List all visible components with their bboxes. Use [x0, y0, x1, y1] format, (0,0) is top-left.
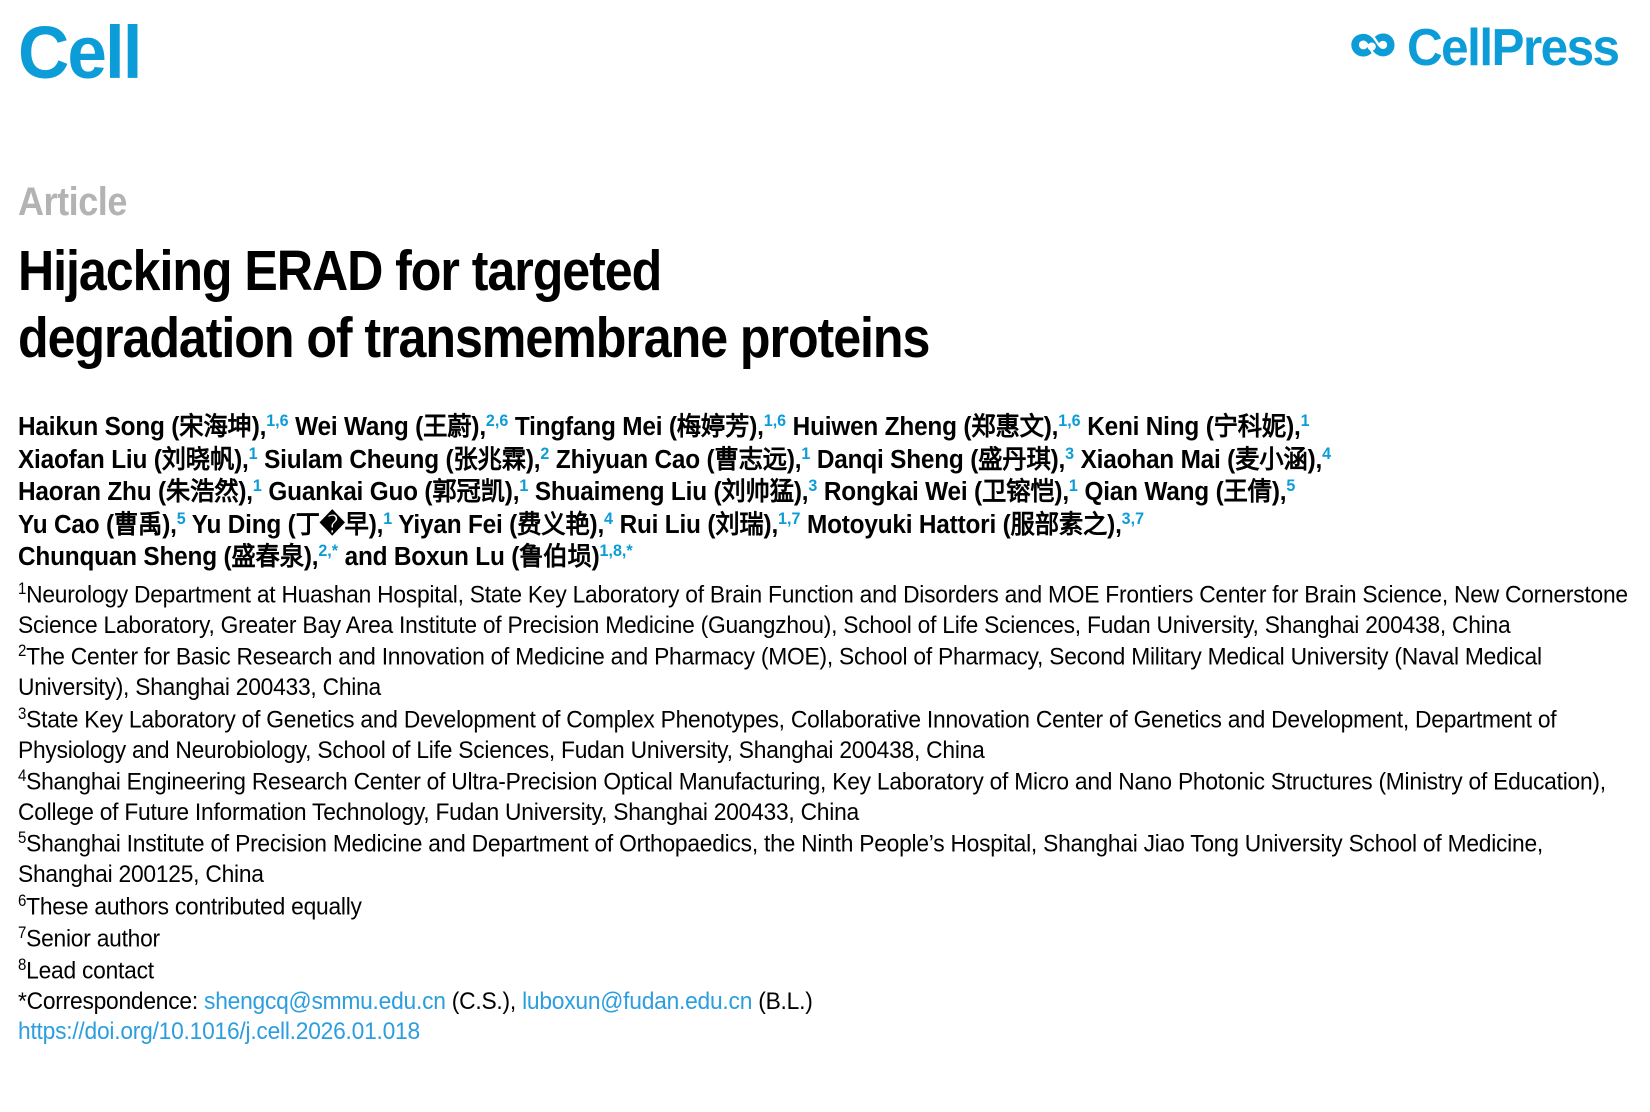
author-name: Yu Ding (丁�早),	[186, 511, 384, 539]
affiliation-text: Lead contact	[26, 957, 154, 984]
doi-link[interactable]: https://doi.org/10.1016/j.cell.2026.01.0…	[18, 1017, 1632, 1048]
cellpress-loop-icon	[1351, 25, 1397, 71]
author-affiliation-marker[interactable]: 2,6	[486, 411, 508, 430]
affiliation-item: 6These authors contributed equally	[18, 891, 1632, 923]
author-affiliation-marker[interactable]: 1	[253, 476, 262, 495]
author-affiliation-marker[interactable]: 1,6	[1058, 411, 1080, 430]
author-affiliation-marker[interactable]: 5	[1286, 476, 1295, 495]
author-name: Qian Wang (王倩),	[1078, 478, 1286, 506]
affiliation-item: 1Neurology Department at Huashan Hospita…	[18, 579, 1632, 641]
author-affiliation-marker[interactable]: 5	[177, 509, 186, 528]
author-affiliation-marker[interactable]: 3	[808, 476, 817, 495]
author-affiliation-marker[interactable]: 3,7	[1122, 509, 1144, 528]
cellpress-publisher-logo[interactable]: CellPress	[1351, 22, 1630, 74]
author-affiliation-marker[interactable]: 1,6	[266, 411, 288, 430]
correspondence-initials: (C.S.),	[452, 988, 516, 1015]
author-affiliation-marker[interactable]: 1	[249, 444, 258, 463]
page-title: Hijacking ERAD for targeteddegradation o…	[18, 238, 1623, 371]
article-header-page: Cell CellPress Article Hijacking ERAD fo…	[0, 0, 1650, 1112]
correspondence-label: *Correspondence:	[18, 988, 198, 1015]
author-affiliation-marker[interactable]: 2	[540, 444, 549, 463]
affiliation-marker: 5	[18, 829, 26, 847]
author-affiliation-marker[interactable]: 1	[383, 509, 392, 528]
author-name: Rongkai Wei (卫镕恺),	[817, 478, 1069, 506]
correspondence-line: *Correspondence: shengcq@smmu.edu.cn (C.…	[18, 987, 1632, 1018]
affiliation-text: State Key Laboratory of Genetics and Dev…	[18, 706, 1556, 764]
affiliation-item: 7Senior author	[18, 923, 1632, 955]
author-name: Shuaimeng Liu (刘帅猛),	[528, 478, 808, 506]
correspondence-email-link[interactable]: luboxun@fudan.edu.cn	[522, 988, 752, 1015]
author-affiliation-marker[interactable]: 2,*	[318, 541, 338, 560]
author-name: Tingfang Mei (梅婷芳),	[508, 413, 763, 441]
author-name: Rui Liu (刘瑞),	[613, 511, 778, 539]
author-affiliation-marker[interactable]: 1	[1069, 476, 1078, 495]
author-name: Haoran Zhu (朱浩然),	[18, 478, 253, 506]
author-name: and Boxun Lu (鲁伯埙)	[338, 543, 600, 571]
author-name: Danqi Sheng (盛丹琪),	[810, 446, 1065, 474]
affiliation-marker: 3	[18, 705, 26, 723]
affiliation-list: 1Neurology Department at Huashan Hospita…	[18, 579, 1632, 987]
author-name: Xiaofan Liu (刘晓帆),	[18, 446, 249, 474]
affiliation-marker: 6	[18, 892, 26, 910]
author-line: Haikun Song (宋海坤),1,6 Wei Wang (王蔚),2,6 …	[18, 411, 1632, 443]
affiliation-text: These authors contributed equally	[26, 893, 362, 920]
masthead: Cell CellPress	[18, 0, 1632, 112]
author-name: Wei Wang (王蔚),	[289, 413, 486, 441]
affiliation-item: 8Lead contact	[18, 955, 1632, 987]
article-type-kicker: Article	[18, 182, 1471, 222]
author-line: Xiaofan Liu (刘晓帆),1 Siulam Cheung (张兆霖),…	[18, 444, 1632, 476]
author-affiliation-marker[interactable]: 1	[801, 444, 810, 463]
affiliation-text: The Center for Basic Research and Innova…	[18, 644, 1542, 702]
title-line: degradation of transmembrane proteins	[18, 305, 1623, 372]
author-line: Chunquan Sheng (盛春泉),2,* and Boxun Lu (鲁…	[18, 541, 1632, 573]
affiliation-text: Senior author	[26, 925, 160, 952]
author-name: Yiyan Fei (费义艳),	[392, 511, 604, 539]
affiliation-item: 2The Center for Basic Research and Innov…	[18, 641, 1632, 703]
correspondence-email-link[interactable]: shengcq@smmu.edu.cn	[204, 988, 446, 1015]
affiliation-text: Shanghai Institute of Precision Medicine…	[18, 831, 1543, 889]
author-name: Xiaohan Mai (麦小涵),	[1074, 446, 1322, 474]
author-name: Siulam Cheung (张兆霖),	[258, 446, 541, 474]
affiliation-marker: 4	[18, 767, 26, 785]
affiliation-text: Shanghai Engineering Research Center of …	[18, 768, 1606, 826]
author-line: Haoran Zhu (朱浩然),1 Guankai Guo (郭冠凯),1 S…	[18, 476, 1632, 508]
affiliation-item: 5Shanghai Institute of Precision Medicin…	[18, 828, 1632, 890]
affiliation-text: Neurology Department at Huashan Hospital…	[18, 581, 1628, 639]
author-affiliation-marker[interactable]: 4	[1322, 444, 1331, 463]
author-affiliation-marker[interactable]: 1,8,*	[600, 541, 633, 560]
author-affiliation-marker[interactable]: 3	[1065, 444, 1074, 463]
author-name: Keni Ning (宁科妮),	[1081, 413, 1301, 441]
author-affiliation-marker[interactable]: 1,6	[764, 411, 786, 430]
correspondence-initials: (B.L.)	[758, 988, 812, 1015]
author-name: Guankai Guo (郭冠凯),	[262, 478, 520, 506]
affiliation-marker: 2	[18, 642, 26, 660]
author-affiliation-marker[interactable]: 1	[519, 476, 528, 495]
author-line: Yu Cao (曹禹),5 Yu Ding (丁�早),1 Yiyan Fei …	[18, 509, 1632, 541]
author-affiliation-marker[interactable]: 1	[1301, 411, 1310, 430]
author-list: Haikun Song (宋海坤),1,6 Wei Wang (王蔚),2,6 …	[18, 411, 1632, 573]
author-affiliation-marker[interactable]: 1,7	[778, 509, 800, 528]
author-name: Huiwen Zheng (郑惠文),	[786, 413, 1058, 441]
affiliation-item: 4Shanghai Engineering Research Center of…	[18, 766, 1632, 828]
affiliation-marker: 1	[18, 580, 26, 598]
affiliation-marker: 7	[18, 924, 26, 942]
author-name: Motoyuki Hattori (服部素之),	[800, 511, 1121, 539]
author-name: Zhiyuan Cao (曹志远),	[549, 446, 801, 474]
author-name: Yu Cao (曹禹),	[18, 511, 177, 539]
author-affiliation-marker[interactable]: 4	[604, 509, 613, 528]
author-name: Haikun Song (宋海坤),	[18, 413, 266, 441]
affiliation-marker: 8	[18, 956, 26, 974]
title-line: Hijacking ERAD for targeted	[18, 238, 1623, 305]
cellpress-logo-text: CellPress	[1407, 22, 1619, 74]
author-name: Chunquan Sheng (盛春泉),	[18, 543, 318, 571]
cell-journal-logo[interactable]: Cell	[18, 16, 141, 90]
affiliation-item: 3State Key Laboratory of Genetics and De…	[18, 704, 1632, 766]
doi-url-text[interactable]: https://doi.org/10.1016/j.cell.2026.01.0…	[18, 1018, 420, 1045]
